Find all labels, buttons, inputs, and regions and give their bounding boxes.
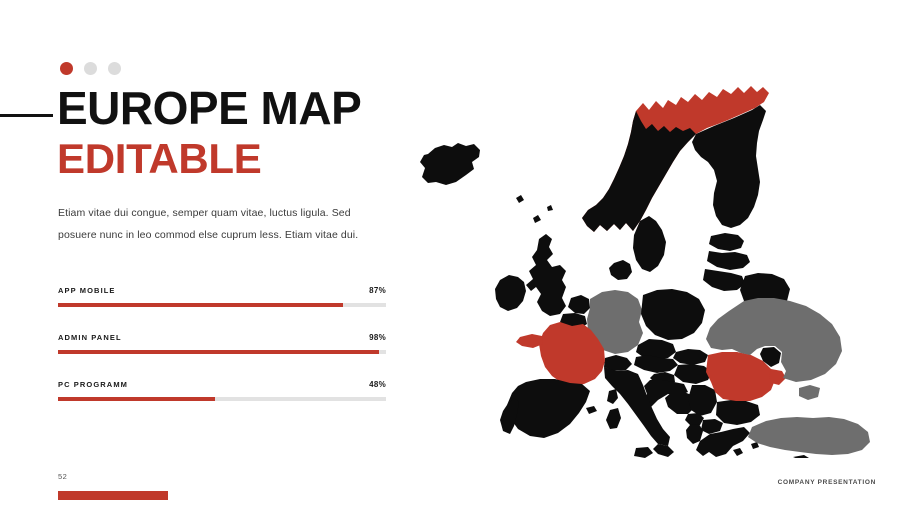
country-sardinia[interactable] [606,408,621,429]
country-united-kingdom[interactable] [526,234,566,316]
country-corsica[interactable] [607,389,618,404]
nav-dot-1-icon[interactable] [60,62,73,75]
country-crimea[interactable] [799,385,820,400]
presentation-slide: EUROPE MAP EDITABLE Etiam vitae dui cong… [0,0,900,506]
country-estonia[interactable] [709,233,744,251]
progress-bar-fill [58,350,379,354]
progress-bar-track [58,397,386,401]
left-content-panel: EUROPE MAP EDITABLE Etiam vitae dui cong… [0,0,420,506]
country-sweden-south[interactable] [633,216,666,272]
country-sicily[interactable] [634,447,653,458]
progress-bar-item: APP MOBILE 87% [58,286,386,307]
progress-bar-value: 98% [369,333,386,342]
slide-nav-dots[interactable] [60,62,121,75]
country-bulgaria[interactable] [716,400,760,425]
body-paragraph: Etiam vitae dui congue, semper quam vita… [58,203,376,246]
europe-map[interactable] [400,58,900,458]
country-ireland[interactable] [495,275,526,311]
progress-bar-fill [58,303,343,307]
country-uk-islands[interactable] [516,195,553,223]
country-france-brittany[interactable] [516,334,543,348]
progress-bar-header: ADMIN PANEL 98% [58,333,386,342]
nav-dot-3-icon[interactable] [108,62,121,75]
progress-bar-group: APP MOBILE 87% ADMIN PANEL 98% PC PR [58,286,386,427]
country-denmark[interactable] [609,260,632,280]
country-iceland[interactable] [420,143,480,185]
progress-bar-item: ADMIN PANEL 98% [58,333,386,354]
page-number: 52 [58,472,67,481]
country-slovakia[interactable] [673,349,708,365]
progress-bar-fill [58,397,215,401]
country-latvia[interactable] [707,251,750,270]
country-balearics[interactable] [586,406,597,414]
country-north-macedonia[interactable] [701,419,723,434]
country-greece-islands[interactable] [733,442,759,456]
progress-bar-value: 87% [369,286,386,295]
europe-map-svg[interactable] [400,58,900,458]
progress-bar-track [58,303,386,307]
progress-bar-track [58,350,386,354]
progress-bar-label: PC PROGRAMM [58,380,128,389]
progress-bar-value: 48% [369,380,386,389]
country-turkey[interactable] [748,417,870,455]
title-rule-divider [0,114,53,117]
page-title-secondary: EDITABLE [57,138,261,180]
country-spain[interactable] [507,379,590,438]
country-lithuania[interactable] [703,269,745,291]
progress-bar-label: APP MOBILE [58,286,116,295]
country-serbia[interactable] [688,385,717,416]
country-italy-south[interactable] [653,444,674,457]
country-austria[interactable] [634,355,678,373]
footer-accent-bar [58,491,168,500]
nav-dot-2-icon[interactable] [84,62,97,75]
country-hungary[interactable] [674,364,712,384]
country-netherlands[interactable] [568,295,590,314]
footer-company-label: COMPANY PRESENTATION [778,479,876,486]
progress-bar-label: ADMIN PANEL [58,333,122,342]
progress-bar-item: PC PROGRAMM 48% [58,380,386,401]
country-turkey-cyprus[interactable] [793,455,809,458]
country-portugal[interactable] [500,398,519,434]
page-title-primary: EUROPE MAP [57,85,361,131]
country-poland[interactable] [641,289,705,340]
progress-bar-header: PC PROGRAMM 48% [58,380,386,389]
progress-bar-header: APP MOBILE 87% [58,286,386,295]
country-sweden[interactable] [582,111,696,232]
